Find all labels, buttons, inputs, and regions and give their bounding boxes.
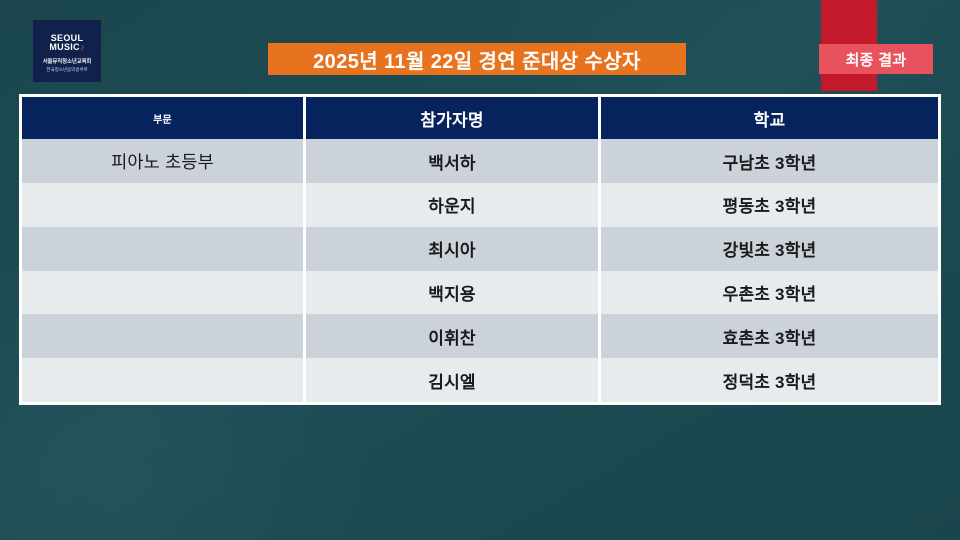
cell-section (22, 183, 306, 227)
column-header-section-label: 부문 (153, 111, 172, 126)
cell-name-text: 백서하 (428, 149, 476, 174)
cell-school: 효촌초 3학년 (601, 314, 938, 358)
table-row: 최시아 강빛초 3학년 (22, 227, 938, 271)
seoul-music-logo: SEOUL MUSIC♪ 서울뮤직청소년교육회 한국청소년음악콩쿠르 (33, 20, 101, 82)
logo-note-icon: ♪ (80, 42, 85, 52)
cell-name: 백지용 (306, 271, 601, 315)
table-row: 이휘찬 효촌초 3학년 (22, 314, 938, 358)
title-banner: 2025년 11월 22일 경연 준대상 수상자 (268, 43, 686, 75)
cell-school-text: 평동초 3학년 (723, 192, 817, 217)
cell-school-text: 정덕초 3학년 (723, 368, 817, 393)
cell-school-text: 우촌초 3학년 (723, 280, 817, 305)
table-row: 김시엘 정덕초 3학년 (22, 358, 938, 402)
cell-school: 우촌초 3학년 (601, 271, 938, 315)
status-badge: 최종 결과 (819, 44, 933, 74)
column-header-name-label: 참가자명 (420, 106, 483, 131)
cell-section-text: 피아노 초등부 (111, 149, 214, 174)
logo-line-2: MUSIC♪ (49, 43, 84, 52)
cell-name-text: 최시아 (428, 236, 476, 261)
logo-korean-org-name: 서울뮤직청소년교육회 (43, 57, 92, 65)
status-badge-label: 최종 결과 (846, 49, 907, 70)
page-title: 2025년 11월 22일 경연 준대상 수상자 (313, 45, 641, 74)
cell-section (22, 314, 306, 358)
table-header-row: 부문 참가자명 학교 (22, 97, 938, 139)
cell-name-text: 하운지 (428, 192, 476, 217)
cell-section: 피아노 초등부 (22, 139, 306, 183)
cell-school: 정덕초 3학년 (601, 358, 938, 402)
presentation-slide: SEOUL MUSIC♪ 서울뮤직청소년교육회 한국청소년음악콩쿠르 2025년… (0, 0, 960, 540)
cell-section (22, 271, 306, 315)
cell-name-text: 김시엘 (428, 368, 476, 393)
cell-section (22, 358, 306, 402)
column-header-school: 학교 (601, 97, 938, 139)
column-header-name: 참가자명 (306, 97, 601, 139)
cell-name-text: 이휘찬 (428, 324, 476, 349)
cell-name: 하운지 (306, 183, 601, 227)
cell-school: 구남초 3학년 (601, 139, 938, 183)
cell-school: 평동초 3학년 (601, 183, 938, 227)
cell-name: 김시엘 (306, 358, 601, 402)
cell-name: 백서하 (306, 139, 601, 183)
logo-wordmark: SEOUL MUSIC♪ (49, 34, 84, 52)
cell-section (22, 227, 306, 271)
table-row: 피아노 초등부 백서하 구남초 3학년 (22, 139, 938, 183)
cell-name: 최시아 (306, 227, 601, 271)
cell-name: 이휘찬 (306, 314, 601, 358)
results-table: 부문 참가자명 학교 피아노 초등부 백서하 구남초 3학년 (19, 94, 941, 405)
cell-name-text: 백지용 (428, 280, 476, 305)
cell-school-text: 구남초 3학년 (723, 149, 817, 174)
logo-korean-subtitle: 한국청소년음악콩쿠르 (46, 67, 87, 73)
cell-school: 강빛초 3학년 (601, 227, 938, 271)
column-header-section: 부문 (22, 97, 306, 139)
cell-school-text: 효촌초 3학년 (723, 324, 817, 349)
table-row: 하운지 평동초 3학년 (22, 183, 938, 227)
cell-school-text: 강빛초 3학년 (723, 236, 817, 261)
column-header-school-label: 학교 (754, 106, 786, 131)
table-row: 백지용 우촌초 3학년 (22, 271, 938, 315)
